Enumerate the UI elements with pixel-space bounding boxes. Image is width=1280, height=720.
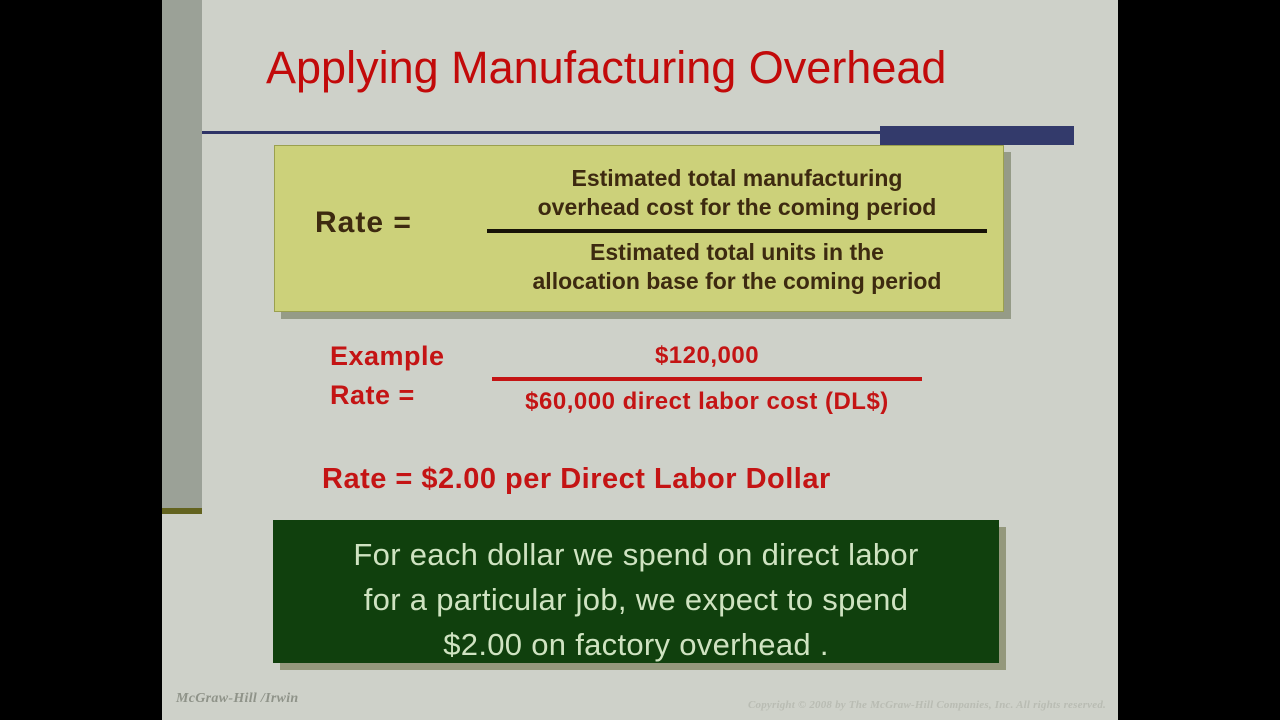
- formula-fraction-bar: [487, 229, 987, 233]
- overhead-rate-formula-box: Rate = Estimated total manufacturing ove…: [274, 145, 1004, 312]
- example-denominator: $60,000 direct labor cost (DL$): [492, 387, 922, 417]
- formula-denominator-line-2: allocation base for the coming period: [483, 267, 991, 296]
- example-label-line-2: Rate =: [330, 376, 445, 415]
- example-numerator: $120,000: [492, 341, 922, 371]
- footer-copyright: Copyright © 2008 by The McGraw-Hill Comp…: [748, 699, 1106, 711]
- slide-canvas: Applying Manufacturing Overhead Rate = E…: [162, 0, 1118, 720]
- callout-text: For each dollar we spend on direct labor…: [273, 532, 999, 667]
- example-rate-label: Example Rate =: [330, 337, 445, 415]
- callout-line-2: for a particular job, we expect to spend: [273, 577, 999, 622]
- callout-line-1: For each dollar we spend on direct labor: [273, 532, 999, 577]
- formula-numerator-line-1: Estimated total manufacturing: [483, 164, 991, 193]
- footer-publisher: McGraw-Hill /Irwin: [176, 691, 298, 707]
- formula-inner: Rate = Estimated total manufacturing ove…: [275, 146, 1003, 311]
- formula-fraction: Estimated total manufacturing overhead c…: [483, 164, 991, 296]
- page-title: Applying Manufacturing Overhead: [266, 40, 1086, 96]
- example-label-line-1: Example: [330, 337, 445, 376]
- screen: Applying Manufacturing Overhead Rate = E…: [0, 0, 1280, 720]
- example-fraction-bar: [492, 377, 922, 381]
- left-decorative-band: [162, 0, 202, 508]
- example-fraction: $120,000 $60,000 direct labor cost (DL$): [492, 341, 922, 417]
- header-accent-block: [880, 126, 1074, 145]
- example-result: Rate = $2.00 per Direct Labor Dollar: [322, 463, 831, 496]
- header-divider-line: [202, 131, 922, 134]
- callout-line-3: $2.00 on factory overhead .: [273, 622, 999, 667]
- formula-rate-label: Rate =: [315, 206, 412, 240]
- left-band-accent-bar: [162, 508, 202, 514]
- formula-numerator-line-2: overhead cost for the coming period: [483, 193, 991, 222]
- interpretation-callout-box: For each dollar we spend on direct labor…: [273, 520, 999, 663]
- formula-denominator-line-1: Estimated total units in the: [483, 238, 991, 267]
